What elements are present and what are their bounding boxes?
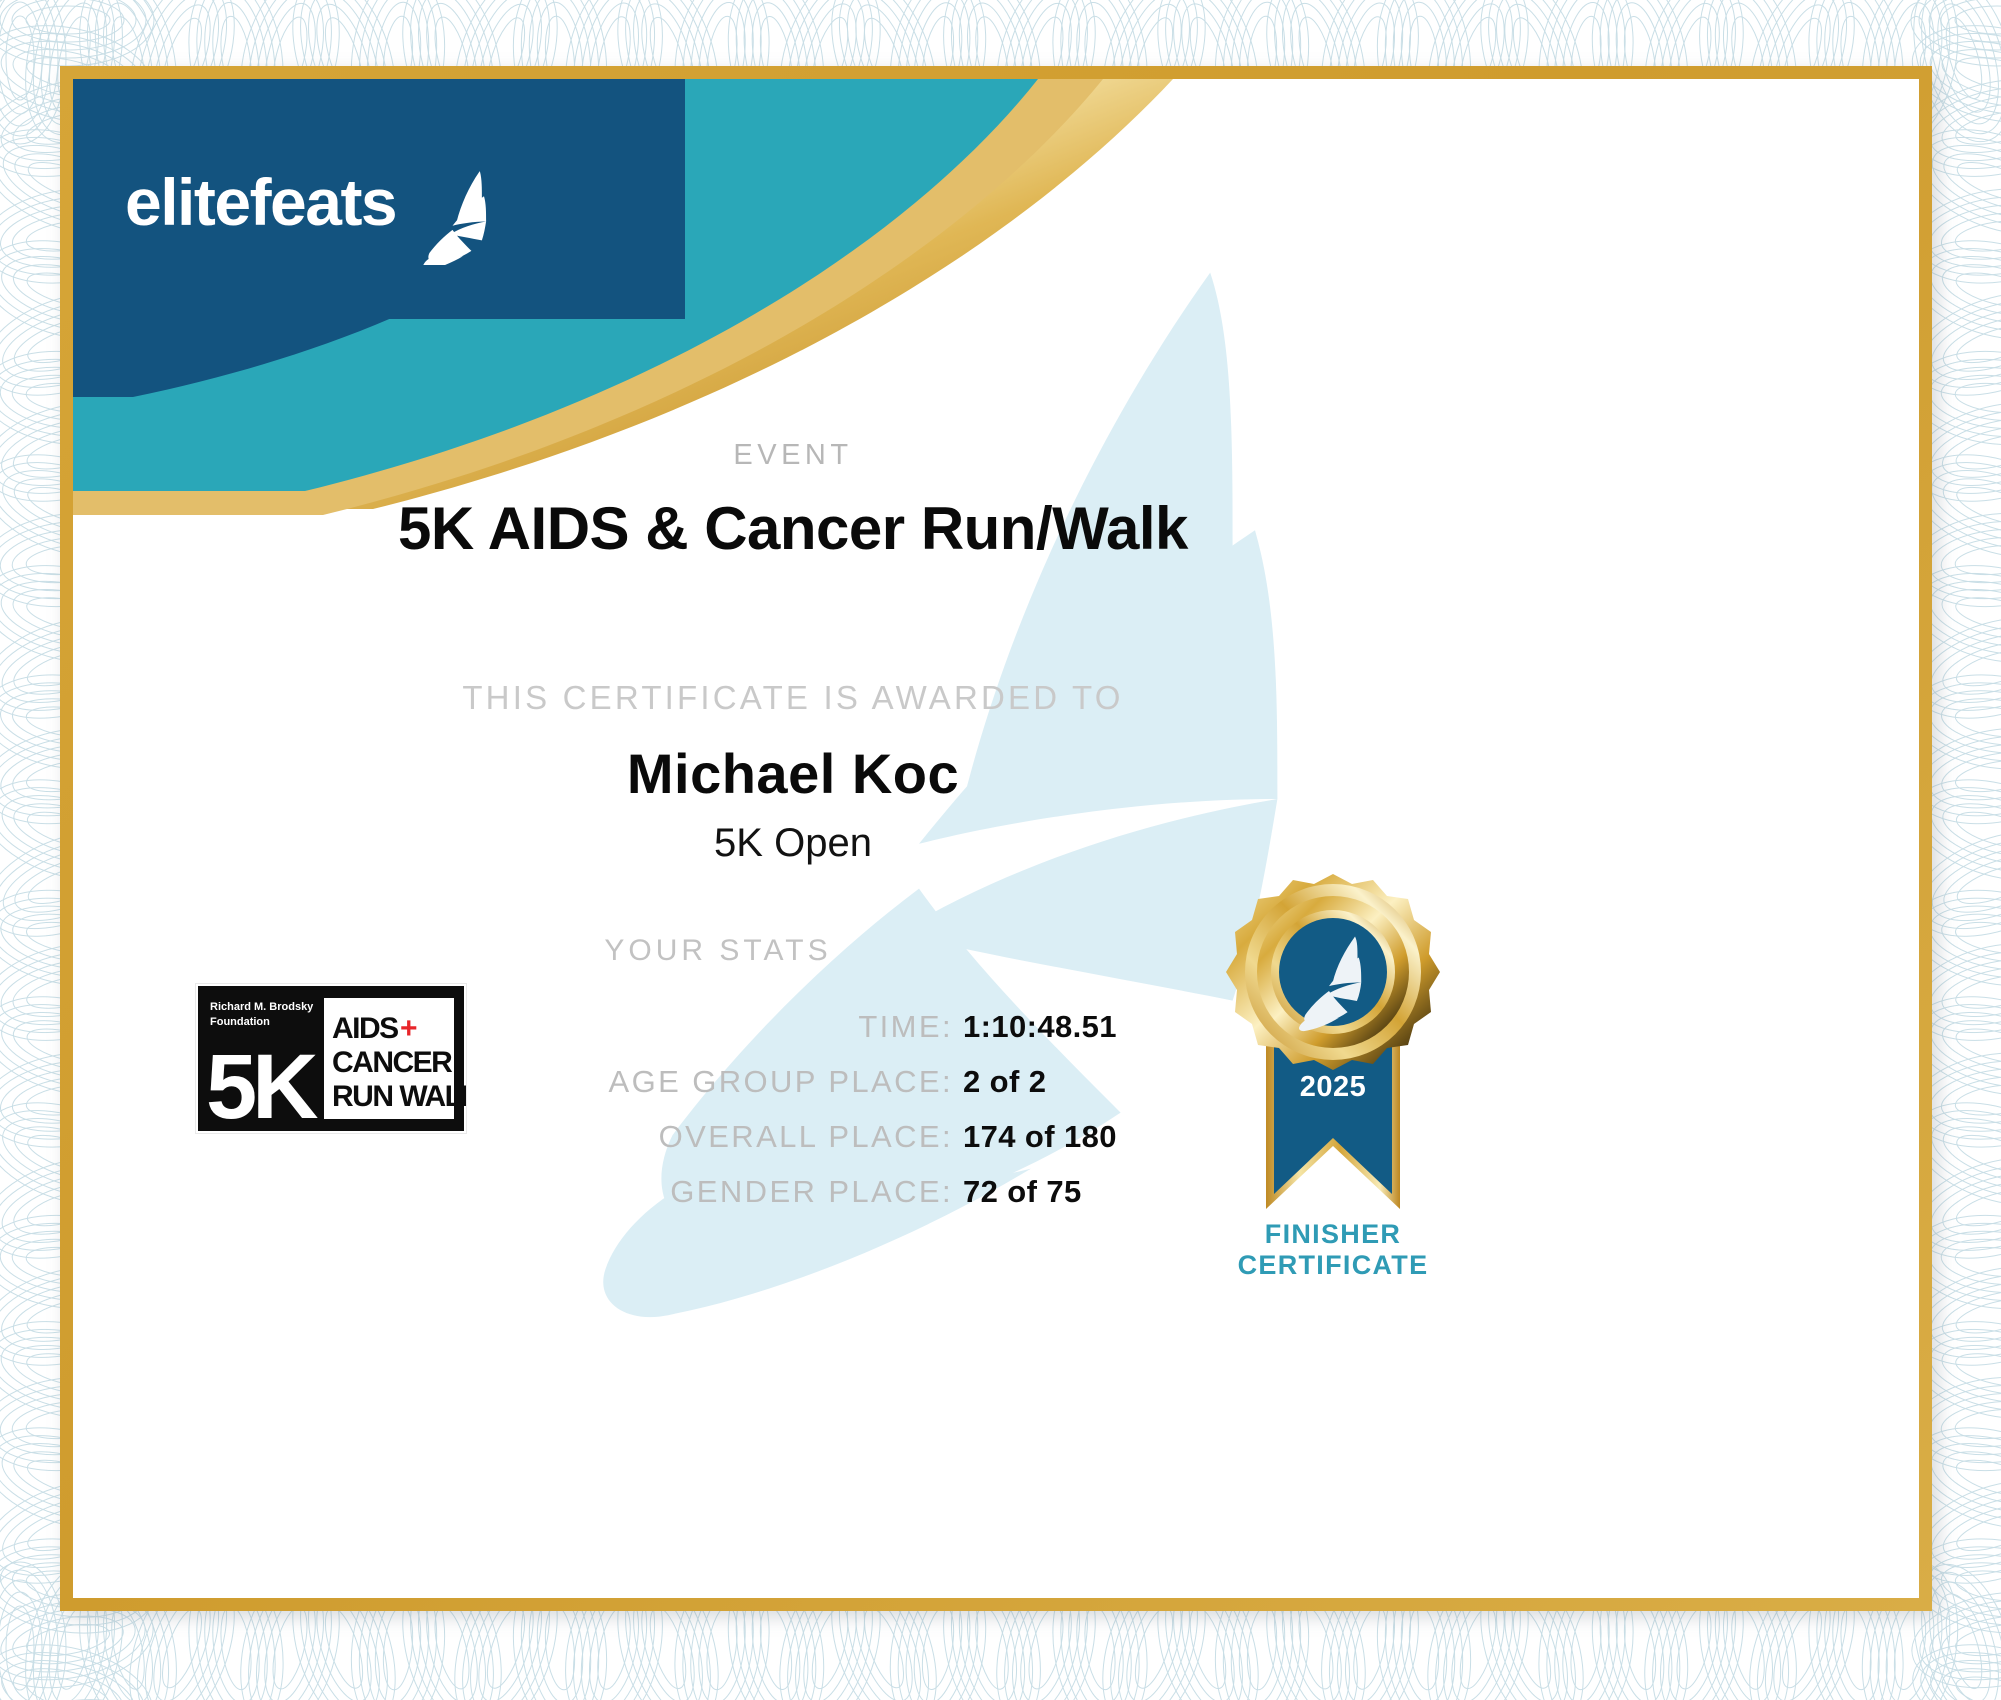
race-name-line3: RUN WALK [332,1080,466,1113]
stat-label: AGE GROUP PLACE: [609,1064,953,1100]
certificate-body: elitefeats [73,79,1919,1598]
race-sponsor-logo: Richard M. Brodsky Foundation 5K AIDS + … [196,984,466,1133]
stat-row-gender-place: GENDER PLACE: 72 of 75 [253,1174,1193,1210]
event-label: EVENT [73,439,1513,472]
stat-value: 1:10:48.51 [963,1009,1193,1045]
stat-label: GENDER PLACE: [670,1174,953,1210]
awarded-to-label: THIS CERTIFICATE IS AWARDED TO [73,679,1513,717]
stat-label: OVERALL PLACE: [659,1119,953,1155]
certificate-page: elitefeats [0,0,2001,1700]
finisher-caption-line1: FINISHER [1163,1219,1503,1250]
event-title: 5K AIDS & Cancer Run/Walk [73,494,1513,563]
stat-value: 2 of 2 [963,1064,1193,1100]
stat-value: 72 of 75 [963,1174,1193,1210]
race-distance: 5K [206,1036,318,1133]
medal-disc [1226,874,1440,1070]
stats-label: YOUR STATS [73,934,1363,968]
race-name-line2: CANCER [332,1046,453,1079]
stat-value: 174 of 180 [963,1119,1193,1155]
race-name-line1: AIDS [332,1012,398,1045]
stat-label: TIME: [858,1009,953,1045]
finisher-caption-line2: CERTIFICATE [1163,1250,1503,1281]
certificate-content: EVENT 5K AIDS & Cancer Run/Walk THIS CER… [73,79,1919,1598]
certificate-gold-frame: elitefeats [60,66,1932,1611]
foundation-line2: Foundation [210,1016,270,1028]
recipient-name: Michael Koc [73,741,1513,806]
finisher-medal-badge: 2025 [1218,864,1448,1244]
race-plus-icon: + [400,1012,418,1045]
medal-year: 2025 [1300,1071,1367,1103]
finisher-caption: FINISHER CERTIFICATE [1163,1219,1503,1282]
foundation-line1: Richard M. Brodsky [210,1001,314,1013]
recipient-division: 5K Open [73,821,1513,866]
